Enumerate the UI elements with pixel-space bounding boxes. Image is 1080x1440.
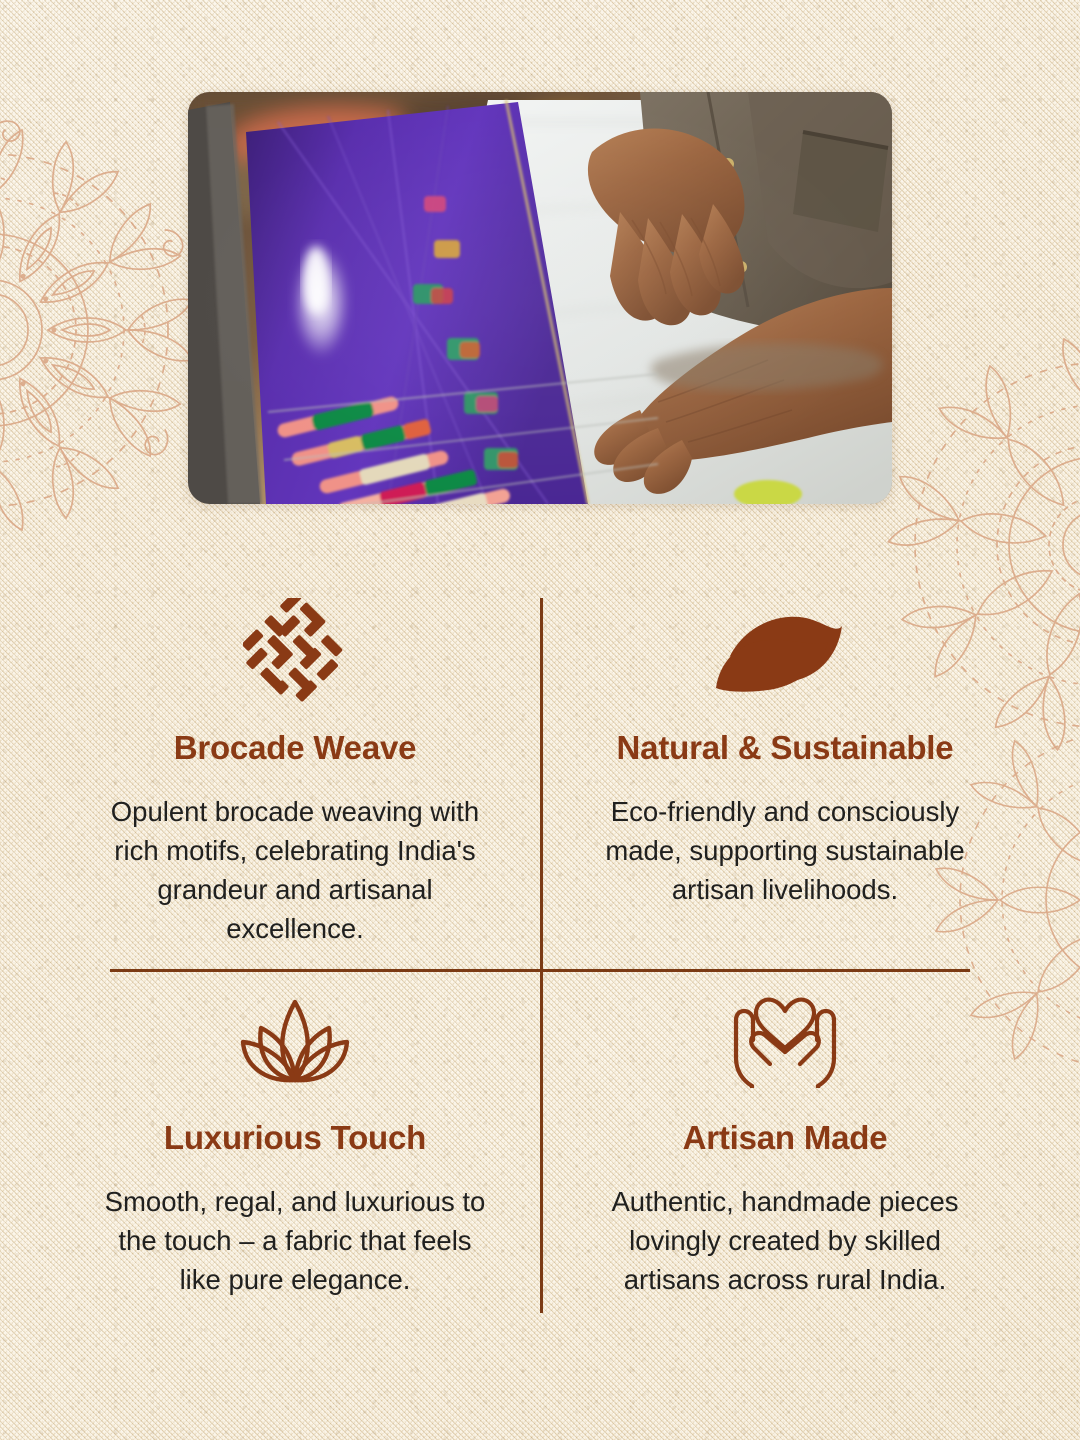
hero-photo (188, 92, 892, 504)
feature-title: Luxurious Touch (164, 1120, 426, 1156)
feature-card-brocade-weave[interactable]: Brocade Weave Opulent brocade weaving wi… (60, 600, 530, 948)
divider-vertical (540, 598, 543, 1313)
lotus-icon (237, 990, 353, 1090)
feature-description: Authentic, handmade pieces lovingly crea… (578, 1182, 993, 1299)
feature-card-artisan-made[interactable]: Artisan Made Authentic, handmade pieces … (550, 990, 1020, 1299)
feature-description: Opulent brocade weaving with rich motifs… (95, 792, 495, 948)
feature-title: Natural & Sustainable (617, 730, 954, 766)
feature-description: Eco-friendly and consciously made, suppo… (578, 792, 993, 909)
brocade-weave-icon (243, 600, 347, 700)
poster-page: Brocade Weave Opulent brocade weaving wi… (0, 0, 1080, 1440)
feature-title: Brocade Weave (174, 730, 417, 766)
feature-grid: Brocade Weave Opulent brocade weaving wi… (60, 590, 1020, 1330)
feature-title: Artisan Made (683, 1120, 888, 1156)
mandala-decoration-left (0, 120, 202, 540)
feature-description: Smooth, regal, and luxurious to the touc… (95, 1182, 495, 1299)
hands-heart-icon (726, 990, 844, 1090)
feature-card-natural-sustainable[interactable]: Natural & Sustainable Eco-friendly and c… (550, 600, 1020, 909)
divider-horizontal (110, 969, 970, 972)
leaf-icon (710, 600, 860, 700)
feature-card-luxurious-touch[interactable]: Luxurious Touch Smooth, regal, and luxur… (60, 990, 530, 1299)
